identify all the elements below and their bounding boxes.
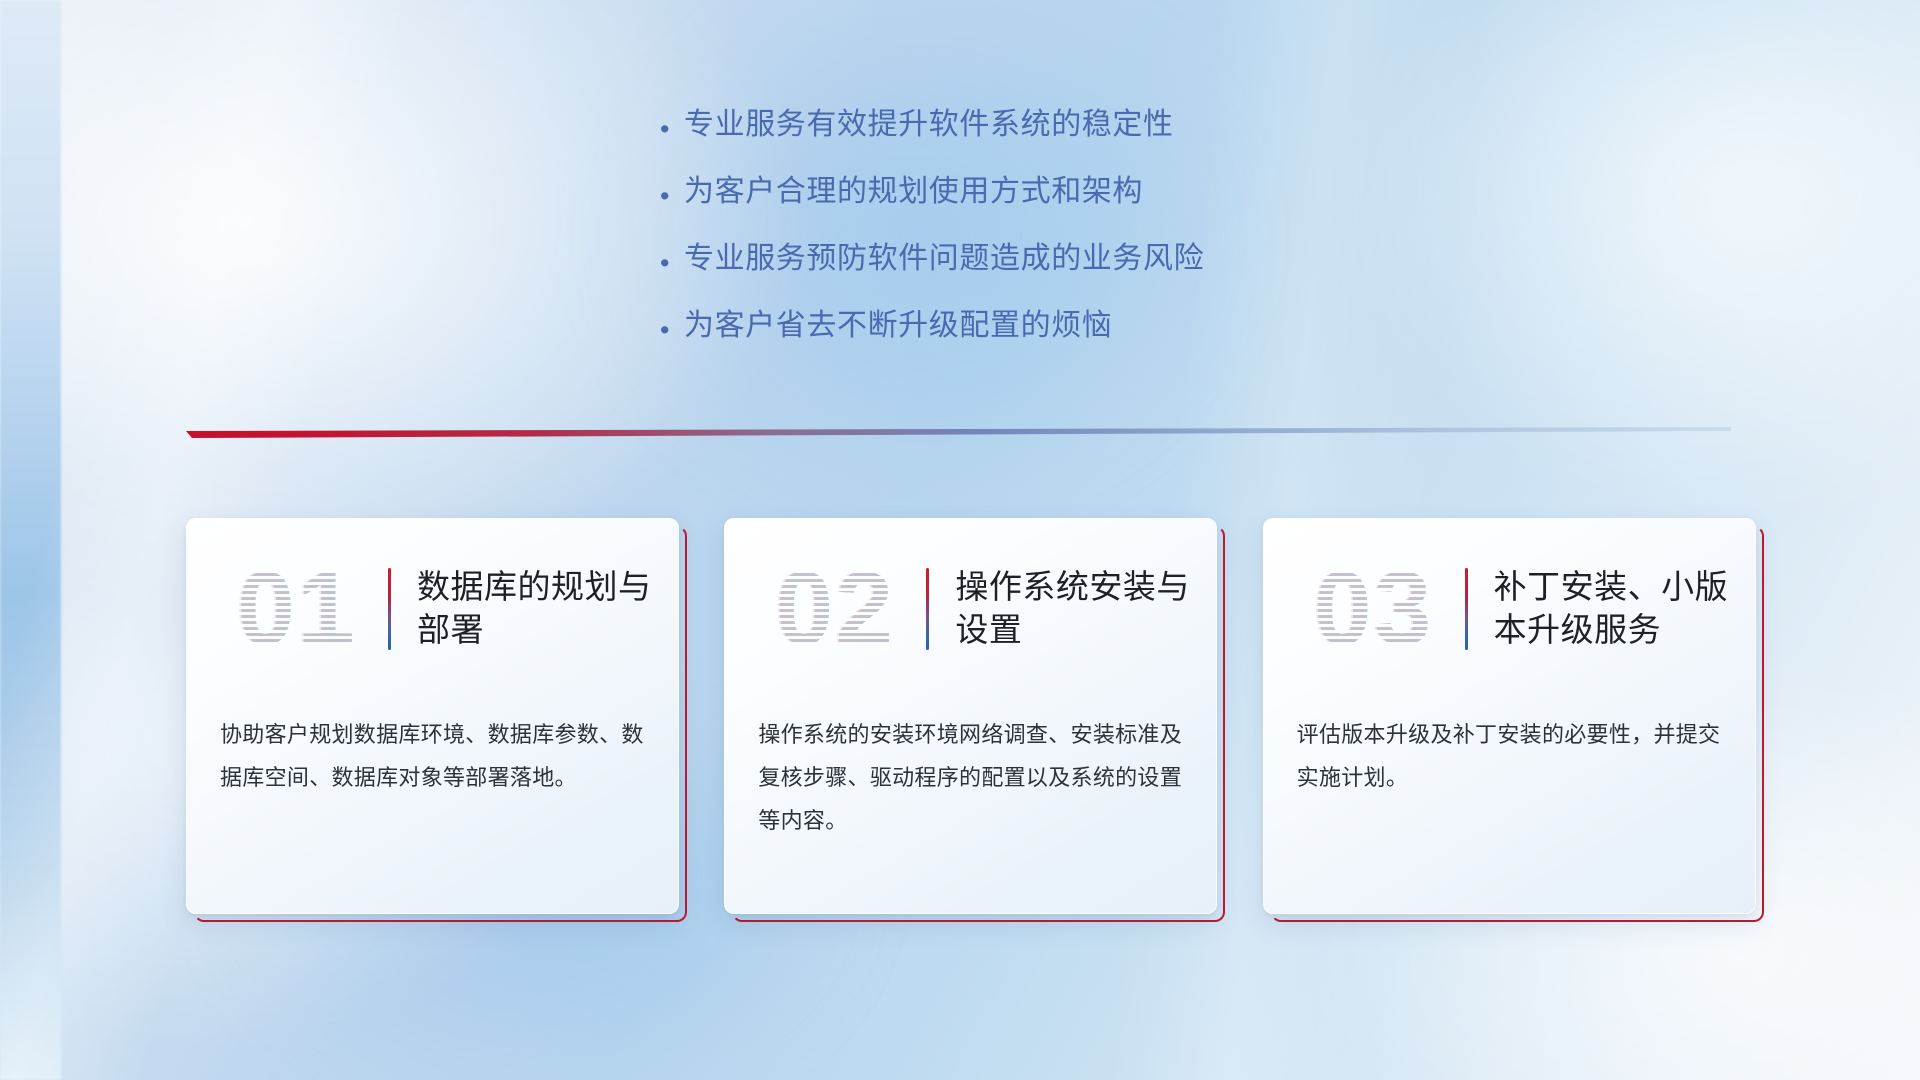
- bullet-dot-icon: •: [660, 309, 684, 344]
- section-divider: [186, 424, 1731, 446]
- service-card[interactable]: 03 补丁安装、小版本升级服务 评估版本升级及补丁安装的必要性，并提交实施计划。: [1263, 518, 1736, 914]
- bullet-text: 为客户省去不断升级配置的烦恼: [684, 309, 1112, 344]
- list-item: • 为客户省去不断升级配置的烦恼: [660, 309, 1420, 344]
- service-cards: 01 数据库的规划与部署 协助客户规划数据库环境、数据库参数、数据库空间、数据库…: [186, 518, 1736, 922]
- divider-shape: [186, 424, 1731, 446]
- card-surface: 02 操作系统安装与设置 操作系统的安装环境网络调查、安装标准及复核步骤、驱动程…: [724, 518, 1217, 914]
- card-title: 操作系统安装与设置: [955, 566, 1217, 652]
- card-description: 操作系统的安装环境网络调查、安装标准及复核步骤、驱动程序的配置以及系统的设置等内…: [758, 714, 1188, 843]
- card-header: 03 补丁安装、小版本升级服务: [1263, 544, 1756, 674]
- card-number-watermark: 01: [208, 549, 386, 669]
- card-title: 数据库的规划与部署: [417, 566, 679, 652]
- card-description: 协助客户规划数据库环境、数据库参数、数据库空间、数据库对象等部署落地。: [220, 714, 650, 800]
- card-title: 补丁安装、小版本升级服务: [1494, 566, 1756, 652]
- card-surface: 03 补丁安装、小版本升级服务 评估版本升级及补丁安装的必要性，并提交实施计划。: [1263, 518, 1756, 914]
- service-card[interactable]: 01 数据库的规划与部署 协助客户规划数据库环境、数据库参数、数据库空间、数据库…: [186, 518, 659, 914]
- bullet-text: 专业服务预防软件问题造成的业务风险: [684, 242, 1204, 277]
- bullet-dot-icon: •: [660, 175, 684, 210]
- card-title-rule: [1465, 568, 1468, 650]
- bullet-text: 专业服务有效提升软件系统的稳定性: [684, 108, 1174, 143]
- bullet-dot-icon: •: [660, 108, 684, 143]
- card-header: 01 数据库的规划与部署: [186, 544, 679, 674]
- service-card[interactable]: 02 操作系统安装与设置 操作系统的安装环境网络调查、安装标准及复核步骤、驱动程…: [724, 518, 1197, 914]
- list-item: • 为客户合理的规划使用方式和架构: [660, 175, 1420, 210]
- list-item: • 专业服务有效提升软件系统的稳定性: [660, 108, 1420, 143]
- card-number-watermark: 03: [1285, 549, 1463, 669]
- bullet-text: 为客户合理的规划使用方式和架构: [684, 175, 1143, 210]
- card-number-watermark: 02: [746, 549, 924, 669]
- card-description: 评估版本升级及补丁安装的必要性，并提交实施计划。: [1297, 714, 1727, 800]
- card-surface: 01 数据库的规划与部署 协助客户规划数据库环境、数据库参数、数据库空间、数据库…: [186, 518, 679, 914]
- card-title-rule: [926, 568, 929, 650]
- list-item: • 专业服务预防软件问题造成的业务风险: [660, 242, 1420, 277]
- card-title-rule: [388, 568, 391, 650]
- benefits-list: • 专业服务有效提升软件系统的稳定性 • 为客户合理的规划使用方式和架构 • 专…: [660, 108, 1420, 376]
- bullet-dot-icon: •: [660, 242, 684, 277]
- card-header: 02 操作系统安装与设置: [724, 544, 1217, 674]
